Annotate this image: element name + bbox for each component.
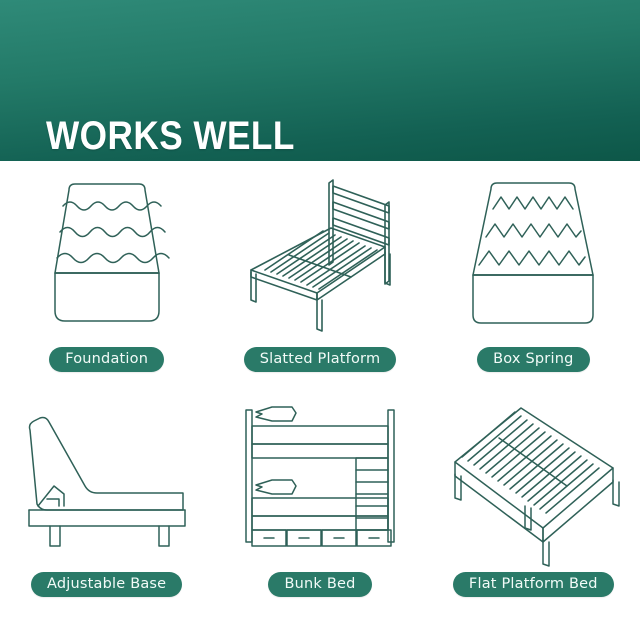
box-spring-icon <box>433 169 633 345</box>
bases-row-top: Foundation <box>0 169 640 391</box>
base-label-foundation: Foundation <box>49 347 164 372</box>
bases-grid: Foundation <box>0 161 640 640</box>
bunk-bed-icon <box>220 394 420 570</box>
flat-platform-bed-icon <box>433 394 633 570</box>
slatted-platform-bed-icon <box>220 169 420 345</box>
base-card-bunk-bed[interactable]: Bunk Bed <box>213 394 426 616</box>
base-label-flat-platform-bed: Flat Platform Bed <box>453 572 614 597</box>
adjustable-base-icon <box>7 394 207 570</box>
header-banner: WORKS WELL WITH THESE BASES <box>0 0 640 161</box>
mattress-foundation-icon <box>7 169 207 345</box>
page-title: WORKS WELL WITH THESE BASES <box>46 26 401 161</box>
base-card-box-spring[interactable]: Box Spring <box>427 169 640 391</box>
base-card-slatted-platform[interactable]: Slatted Platform <box>213 169 426 391</box>
base-card-foundation[interactable]: Foundation <box>0 169 213 391</box>
base-label-adjustable-base: Adjustable Base <box>31 572 182 597</box>
base-card-flat-platform-bed[interactable]: Flat Platform Bed <box>427 394 640 616</box>
base-card-adjustable-base[interactable]: Adjustable Base <box>0 394 213 616</box>
bases-row-bottom: Adjustable Base <box>0 394 640 616</box>
base-label-box-spring: Box Spring <box>477 347 589 372</box>
base-label-bunk-bed: Bunk Bed <box>268 572 371 597</box>
page-title-line-1: WORKS WELL <box>46 114 401 158</box>
base-label-slatted-platform: Slatted Platform <box>244 347 397 372</box>
